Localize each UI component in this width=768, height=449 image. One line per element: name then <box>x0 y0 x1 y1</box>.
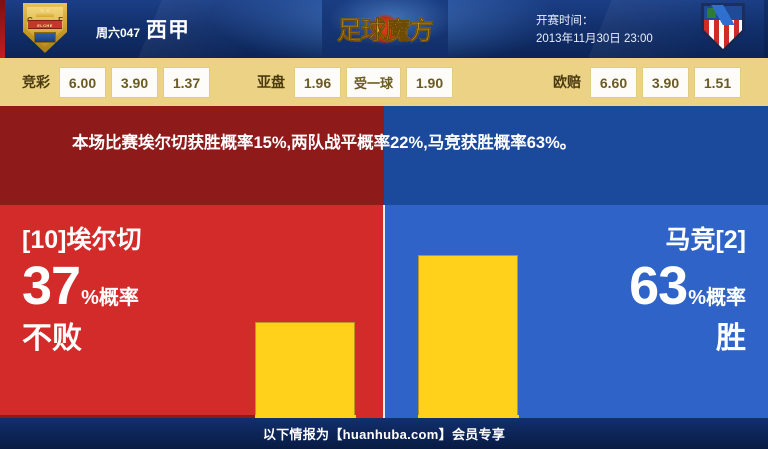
kickoff-label: 开赛时间： <box>536 12 653 30</box>
round-label: 周六047 <box>96 24 140 41</box>
odds-group-label: 亚盘 <box>253 72 289 92</box>
elche-crest-name: ELCHE <box>28 21 62 30</box>
odds-cell-draw[interactable]: 3.90 <box>642 67 689 98</box>
probability-chart: [10]埃尔切 37 %概率 不败 马竞[2] 63 %概率 胜 <box>0 205 768 418</box>
odds-group-yapan: 亚盘 1.96 受一球 1.90 <box>253 67 453 98</box>
footer-notice: 以下情报为【huanhuba.com】会员专享 <box>263 424 505 443</box>
league-label: 西甲 <box>146 14 190 44</box>
match-title: 周六047 西甲 <box>96 14 190 44</box>
odds-cell-home[interactable]: 6.00 <box>59 67 106 98</box>
odds-cell-home[interactable]: 1.96 <box>294 67 341 98</box>
odds-group-label: 竞彩 <box>18 72 54 92</box>
elche-crest-icon: C F ELCHE <box>14 3 76 55</box>
home-probability-unit: %概率 <box>81 288 139 308</box>
odds-cell-away[interactable]: 1.51 <box>694 67 741 98</box>
home-panel: [10]埃尔切 37 %概率 不败 <box>0 205 383 418</box>
match-prediction-infographic: C F ELCHE 周六047 西甲 足球魔方 开赛时间： 2013年11月30… <box>0 0 768 449</box>
summary-text: 本场比赛埃尔切获胜概率15%,两队战平概率22%,马竞获胜概率63%。 <box>72 128 712 158</box>
odds-group-oupei: 欧赔 6.60 3.90 1.51 <box>549 67 741 98</box>
header-bar: C F ELCHE 周六047 西甲 足球魔方 开赛时间： 2013年11月30… <box>0 0 768 58</box>
brand-logo[interactable]: 足球魔方 <box>322 0 448 58</box>
away-probability-unit: %概率 <box>688 288 746 308</box>
home-stat-block: [10]埃尔切 37 %概率 不败 <box>22 223 252 359</box>
brand-logo-text: 足球魔方 <box>337 11 433 47</box>
atletico-madrid-crest-icon <box>692 3 754 55</box>
home-probability-value: 37 <box>22 259 80 313</box>
odds-bar: 竞彩 6.00 3.90 1.37 亚盘 1.96 受一球 1.90 欧赔 6.… <box>0 58 768 106</box>
header-left-accent <box>0 0 5 58</box>
kickoff-time: 开赛时间： 2013年11月30日 23:00 <box>536 12 653 48</box>
odds-cell-away[interactable]: 1.37 <box>163 67 210 98</box>
odds-group-jingcai: 竞彩 6.00 3.90 1.37 <box>18 67 210 98</box>
away-team-name: 马竞[2] <box>516 223 746 257</box>
away-panel: 马竞[2] 63 %概率 胜 <box>385 205 768 418</box>
home-result-label: 不败 <box>22 319 252 359</box>
odds-cell-home[interactable]: 6.60 <box>590 67 637 98</box>
home-team-name: [10]埃尔切 <box>22 223 252 257</box>
away-result-label: 胜 <box>516 319 746 359</box>
summary-banner: 本场比赛埃尔切获胜概率15%,两队战平概率22%,马竞获胜概率63%。 <box>0 106 768 205</box>
odds-group-label: 欧赔 <box>549 72 585 92</box>
away-stat-block: 马竞[2] 63 %概率 胜 <box>516 223 746 359</box>
odds-cell-draw[interactable]: 3.90 <box>111 67 158 98</box>
odds-cell-away[interactable]: 1.90 <box>406 67 453 98</box>
odds-cell-handicap[interactable]: 受一球 <box>346 67 401 98</box>
footer-bar: 以下情报为【huanhuba.com】会员专享 <box>0 418 768 449</box>
away-probability-value: 63 <box>629 259 687 313</box>
away-probability-bar <box>418 255 518 418</box>
kickoff-value: 2013年11月30日 23:00 <box>536 30 653 48</box>
home-probability-bar <box>255 322 355 418</box>
